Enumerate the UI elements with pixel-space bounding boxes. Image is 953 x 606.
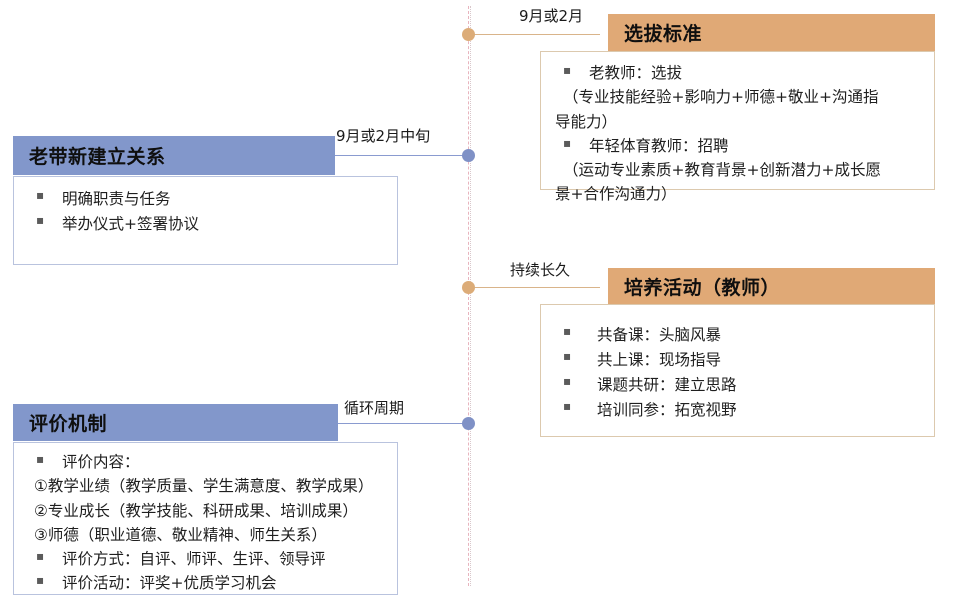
list-item-numbered: ③师德（职业道德、敬业精神、师生关系） — [28, 524, 385, 547]
bullet-list-training-activities: 共备课：头脑风暴 共上课：现场指导 课题共研：建立思路 培训同参：拓宽视野 — [555, 315, 922, 422]
list-item: 年轻体育教师：招聘 — [555, 135, 922, 158]
node-mentorship-relationship[interactable] — [462, 149, 475, 162]
connector-evaluation-mechanism — [338, 423, 469, 424]
bullet-list-selection-criteria: 老教师：选拔 （专业技能经验+影响力+师德+敬业+沟通指 导能力） 年轻体育教师… — [555, 62, 922, 207]
timeline-diagram-canvas: 9月或2月 选拔标准 老教师：选拔 （专业技能经验+影响力+师德+敬业+沟通指 … — [0, 0, 953, 606]
card-title-mentorship-relationship[interactable]: 老带新建立关系 — [13, 136, 335, 175]
time-label-mentorship-relationship: 9月或2月中旬 — [336, 128, 430, 145]
list-item: 共上课：现场指导 — [555, 348, 922, 372]
list-item-continuation: 导能力） — [555, 111, 922, 134]
card-body-mentorship-relationship: 明确职责与任务 举办仪式+签署协议 — [13, 176, 398, 265]
list-item: 举办仪式+签署协议 — [28, 212, 385, 236]
bullet-list-evaluation-mechanism: 评价内容： ①教学业绩（教学质量、学生满意度、教学成果） ②专业成长（教学技能、… — [28, 451, 385, 596]
card-title-training-activities[interactable]: 培养活动（教师） — [608, 268, 935, 304]
list-item-numbered: ②专业成长（教学技能、科研成果、培训成果） — [28, 500, 385, 523]
list-item-numbered: ①教学业绩（教学质量、学生满意度、教学成果） — [28, 475, 385, 498]
list-item: 课题共研：建立思路 — [555, 373, 922, 397]
node-evaluation-mechanism[interactable] — [462, 417, 475, 430]
card-body-training-activities: 共备课：头脑风暴 共上课：现场指导 课题共研：建立思路 培训同参：拓宽视野 — [540, 304, 935, 437]
list-item-continuation: 景+合作沟通力） — [555, 183, 922, 206]
connector-mentorship-relationship — [335, 155, 469, 156]
time-label-evaluation-mechanism: 循环周期 — [344, 400, 404, 417]
bullet-list-mentorship-relationship: 明确职责与任务 举办仪式+签署协议 — [28, 187, 385, 236]
list-item: 评价方式：自评、师评、生评、领导评 — [28, 548, 385, 571]
node-training-activities[interactable] — [462, 281, 475, 294]
list-item-continuation: （运动专业素质+教育背景+创新潜力+成长愿 — [555, 159, 922, 182]
card-title-evaluation-mechanism[interactable]: 评价机制 — [13, 404, 338, 441]
connector-selection-criteria — [469, 34, 600, 35]
list-item: 共备课：头脑风暴 — [555, 323, 922, 347]
connector-training-activities — [469, 287, 600, 288]
list-item-continuation: （专业技能经验+影响力+师德+敬业+沟通指 — [555, 86, 922, 109]
list-item: 老教师：选拔 — [555, 62, 922, 85]
list-item: 评价活动：评奖+优质学习机会 — [28, 572, 385, 595]
list-item: 明确职责与任务 — [28, 187, 385, 211]
card-body-evaluation-mechanism: 评价内容： ①教学业绩（教学质量、学生满意度、教学成果） ②专业成长（教学技能、… — [13, 442, 398, 595]
list-item: 培训同参：拓宽视野 — [555, 398, 922, 422]
card-title-selection-criteria[interactable]: 选拔标准 — [608, 14, 935, 51]
timeline-axis — [468, 6, 469, 586]
node-selection-criteria[interactable] — [462, 28, 475, 41]
time-label-training-activities: 持续长久 — [510, 262, 570, 279]
card-body-selection-criteria: 老教师：选拔 （专业技能经验+影响力+师德+敬业+沟通指 导能力） 年轻体育教师… — [540, 51, 935, 190]
time-label-selection-criteria: 9月或2月 — [519, 8, 583, 25]
timeline-axis-inner — [470, 6, 471, 586]
list-item: 评价内容： — [28, 451, 385, 474]
